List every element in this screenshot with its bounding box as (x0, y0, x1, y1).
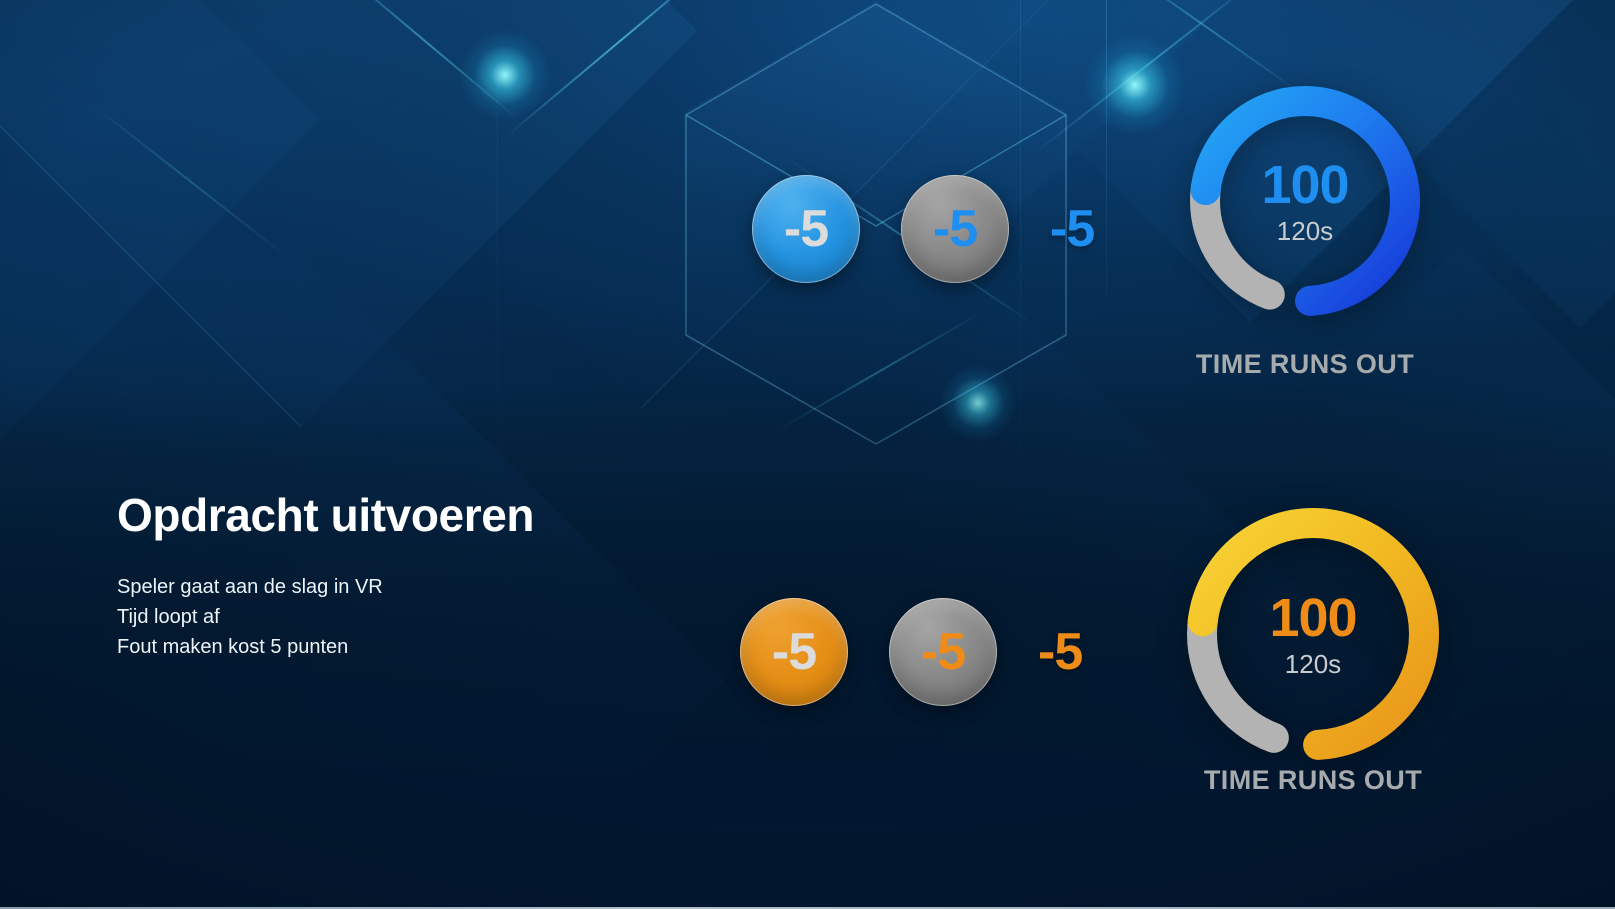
description-line-1: Speler gaat aan de slag in VR (117, 572, 383, 602)
gauge-label: TIME RUNS OUT (1204, 765, 1422, 796)
penalty-chip-filled-blue[interactable]: -5 (752, 175, 860, 283)
slide-canvas: Opdracht uitvoeren Speler gaat aan de sl… (0, 0, 1615, 909)
gauge-center-text: 100 120s (1187, 83, 1423, 319)
page-title: Opdracht uitvoeren (117, 491, 534, 541)
penalty-text-orange: -5 (1038, 622, 1082, 682)
gauge-subvalue: 120s (1277, 218, 1333, 244)
gauge-label: TIME RUNS OUT (1196, 349, 1414, 380)
gauge-value: 100 (1261, 158, 1348, 212)
gauge-center-text: 100 120s (1182, 503, 1444, 765)
gauge-subvalue: 120s (1285, 651, 1341, 677)
penalty-chip-filled-orange[interactable]: -5 (740, 598, 848, 706)
penalty-chip-grey-blue[interactable]: -5 (901, 175, 1009, 283)
penalty-chip-grey-orange[interactable]: -5 (889, 598, 997, 706)
gauge-value: 100 (1269, 591, 1356, 645)
orange-timer-gauge: 100 120s TIME RUNS OUT (1182, 503, 1444, 765)
description-line-2: Tijd loopt af (117, 602, 383, 632)
penalty-text-blue: -5 (1050, 199, 1094, 259)
blue-timer-gauge: 100 120s TIME RUNS OUT (1187, 83, 1423, 319)
blue-penalty-row: -5 -5 -5 (752, 175, 1094, 283)
description-line-3: Fout maken kost 5 punten (117, 632, 383, 662)
orange-penalty-row: -5 -5 -5 (740, 598, 1082, 706)
description-list: Speler gaat aan de slag in VR Tijd loopt… (117, 572, 383, 662)
